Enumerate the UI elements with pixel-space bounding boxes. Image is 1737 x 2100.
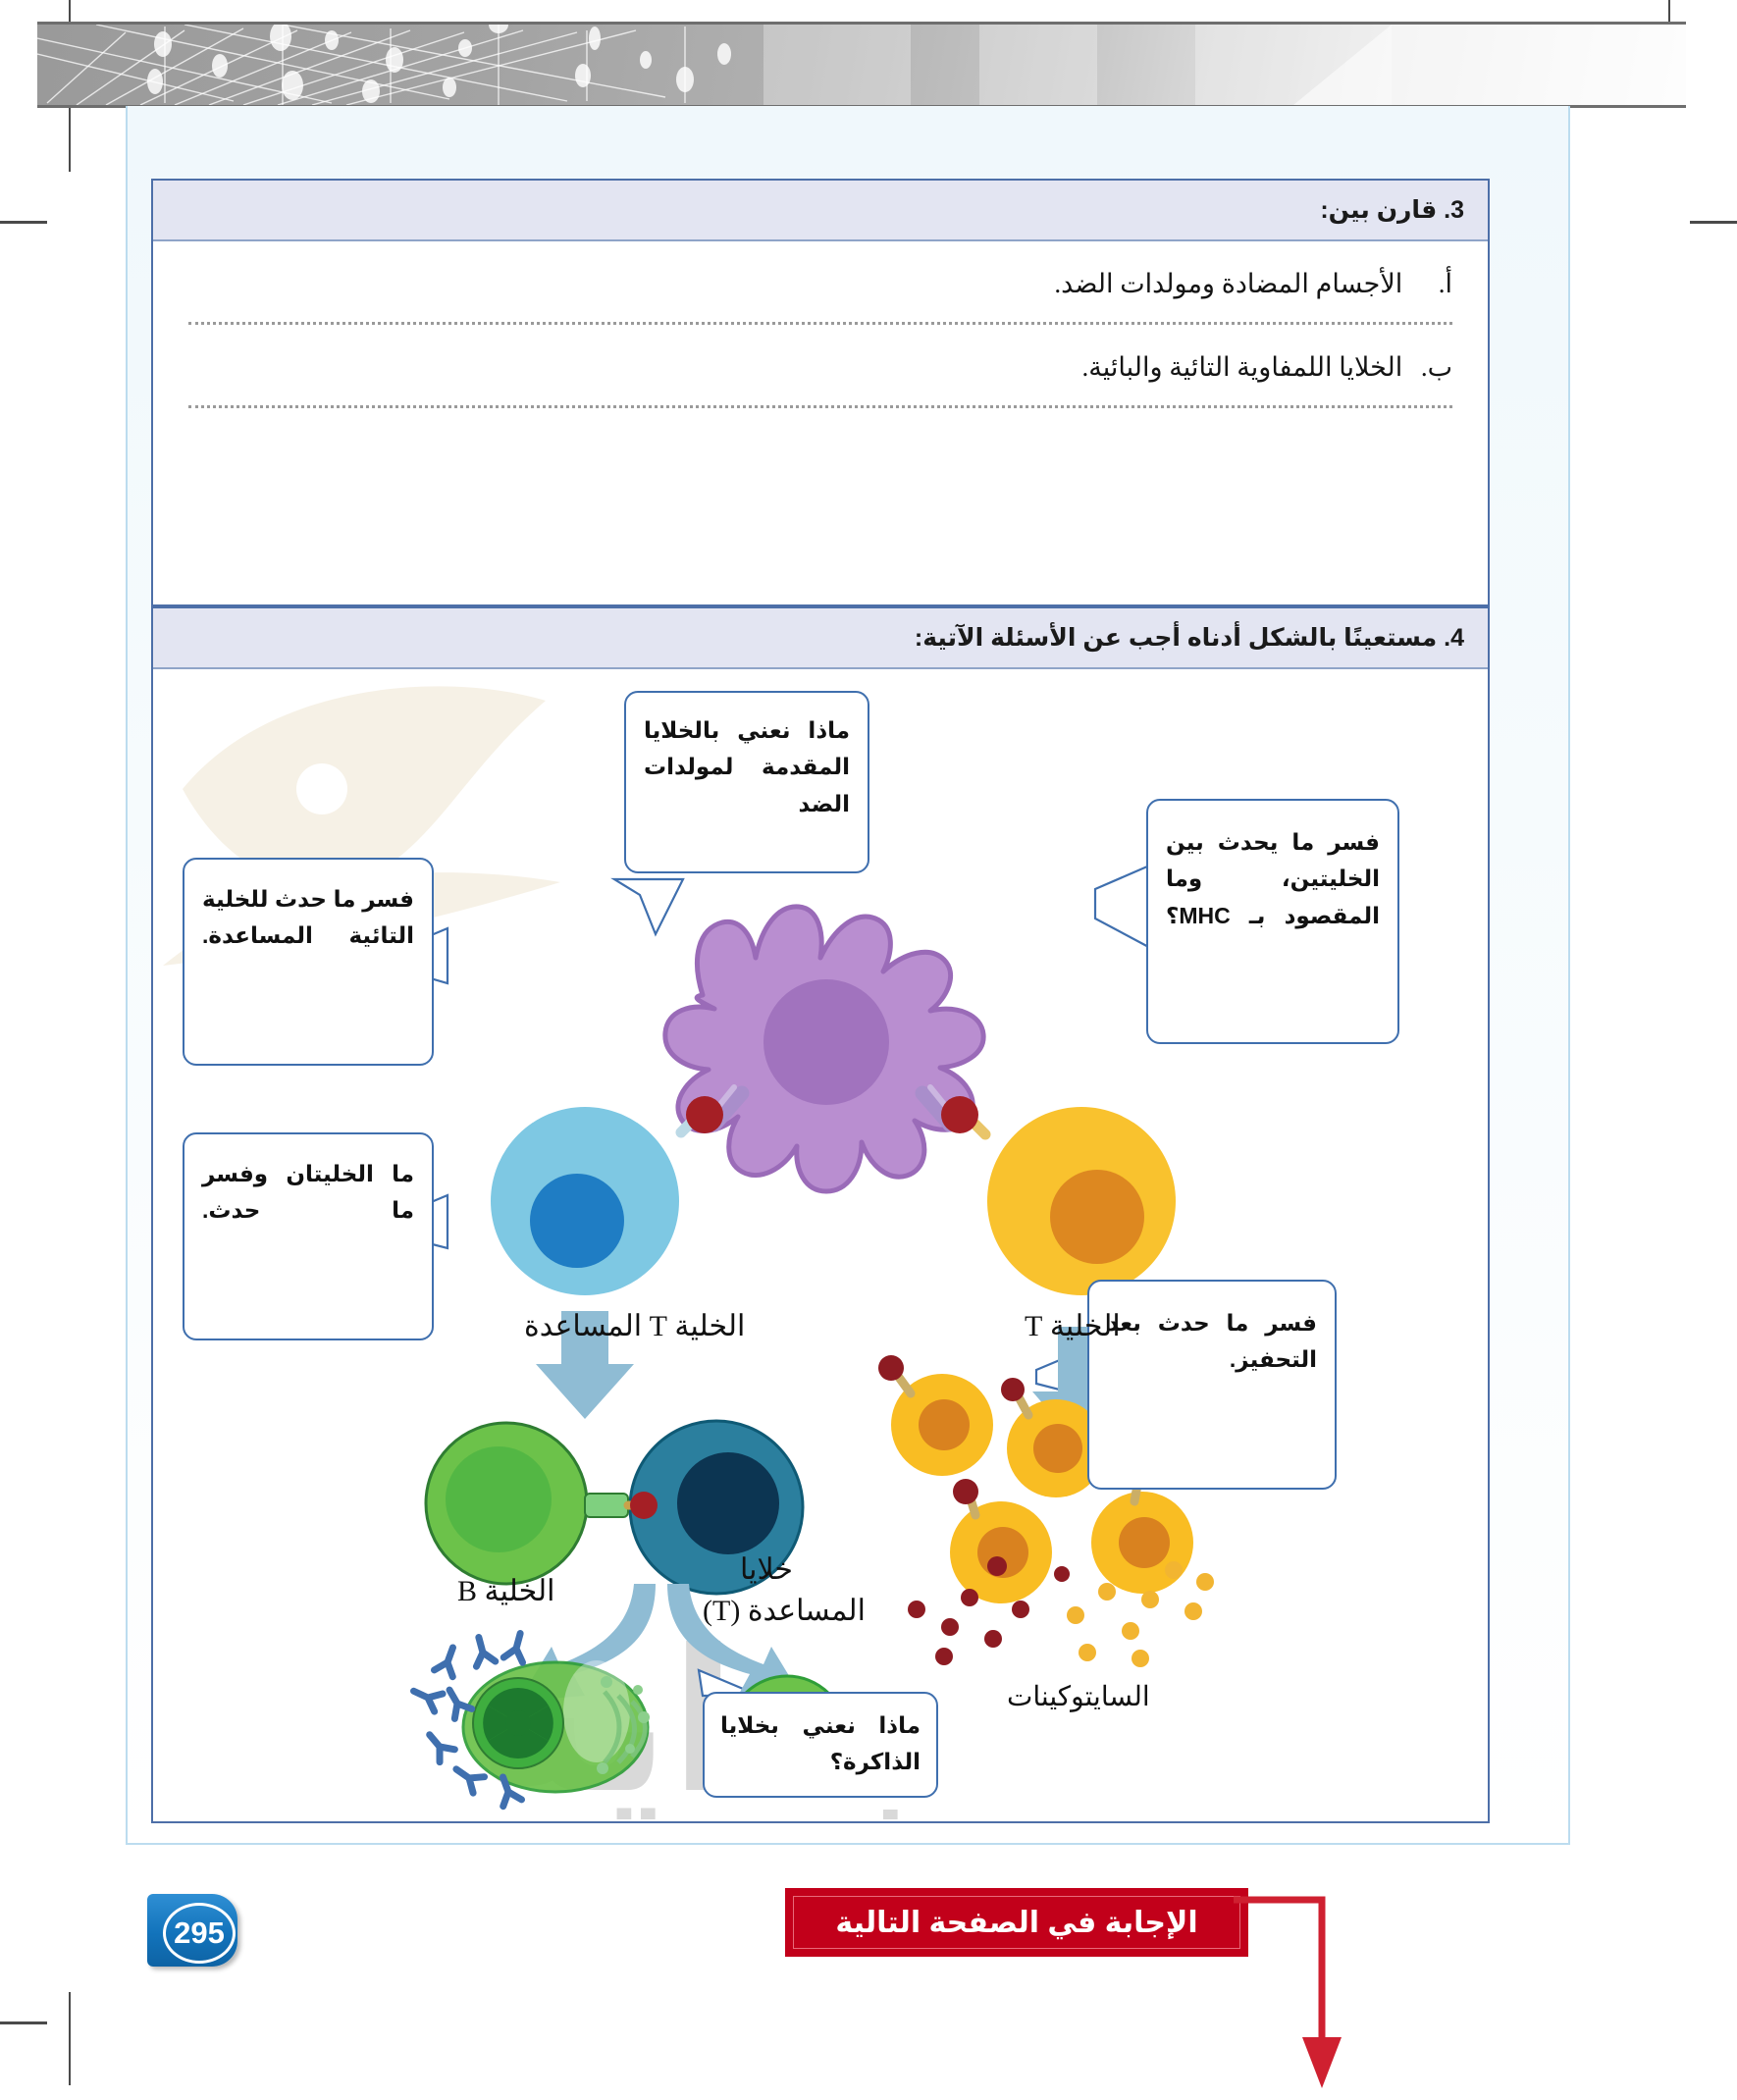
crop-mark-bottom-left-v: [69, 1992, 71, 2085]
plasma-cell-shape: [463, 1660, 650, 1792]
question-3-body: أ. الأجسام المضادة ومولدات الضد. ب. الخل…: [153, 241, 1488, 408]
antigen-dot-left: [686, 1096, 723, 1133]
down-arrow-icon: [1232, 1894, 1349, 2100]
helper-t-nucleus: [530, 1174, 624, 1268]
callout-after-stimulation[interactable]: فسر ما حدث بعد التحفيز.: [1087, 1280, 1337, 1490]
page-header-banner: [37, 22, 1686, 108]
plasma-cell-organelles: [483, 1688, 553, 1759]
question-3-item-a-label: أ.: [1409, 269, 1452, 299]
t-cell-shape: [987, 1107, 1176, 1295]
callout-helper-t-text: فسر ما حدث للخلية التائية المساعدة.: [202, 881, 414, 955]
callout-apc[interactable]: ماذا نعني بالخلايا المقدمة لمولدات الضد: [624, 691, 869, 873]
antigen-dot-right: [941, 1096, 978, 1133]
label-cytokines: السايتوكينات: [1007, 1680, 1150, 1713]
question-3-item-b-text: الخلايا اللمفاوية التائية والبائية.: [1082, 352, 1403, 382]
cytokine-particles: [908, 1556, 1214, 1667]
page-number-ellipse: 295: [163, 1903, 236, 1964]
apc-nucleus: [763, 979, 889, 1105]
helper-t-cell-shape: [491, 1107, 679, 1295]
callout-mhc[interactable]: فسر ما يحدث بين الخليتين، وما المقصود بـ…: [1146, 799, 1399, 1044]
question-3-item-b-label: ب.: [1409, 352, 1452, 383]
callout-two-cells[interactable]: ما الخليتان وفسر ما حدث.: [183, 1132, 434, 1340]
page-number-text: 295: [174, 1916, 225, 1951]
callout-memory-cells[interactable]: ماذا نعني بخلايا الذاكرة؟: [703, 1692, 938, 1798]
label-helper-t-cell: الخلية T المساعدة: [524, 1309, 745, 1343]
stimulated-t-cell: [878, 1355, 993, 1476]
label-b-cell: الخلية B: [457, 1574, 554, 1608]
question-4-header: 4. مستعينًا بالشكل أدناه أجب عن الأسئلة …: [153, 608, 1488, 669]
stimulated-t-cell: [950, 1479, 1052, 1603]
crop-mark-top-left-h: [0, 221, 47, 224]
question-3-header: 3. قارن بين:: [153, 181, 1488, 241]
crop-mark-bottom-left-h: [0, 2021, 47, 2024]
next-page-answer-text: الإجابة في الصفحة التالية: [835, 1906, 1197, 1940]
b-cell-nucleus: [446, 1446, 552, 1552]
question-4-title: 4. مستعينًا بالشكل أدناه أجب عن الأسئلة …: [915, 623, 1464, 653]
question-3-title: 3. قارن بين:: [1320, 195, 1464, 225]
helper-t-cells-nucleus: [677, 1452, 779, 1554]
callout-helper-t[interactable]: فسر ما حدث للخلية التائية المساعدة.: [183, 858, 434, 1066]
answer-line-b[interactable]: [188, 404, 1452, 408]
callout-after-stimulation-text: فسر ما حدث بعد التحفيز.: [1107, 1305, 1317, 1379]
label-t-cell: الخلية T: [1025, 1309, 1121, 1343]
mhc-callout-tail: [1095, 864, 1154, 950]
b-cell-shape: [426, 1423, 587, 1584]
t-cell-nucleus: [1050, 1170, 1144, 1264]
callout-memory-cells-text: ماذا نعني بخلايا الذاكرة؟: [720, 1707, 921, 1781]
question-3-item-a: أ. الأجسام المضادة ومولدات الضد.: [153, 241, 1488, 305]
crop-mark-top-right-h: [1690, 221, 1737, 224]
molecular-network-graphic: [37, 25, 1686, 105]
question-3-block: 3. قارن بين: أ. الأجسام المضادة ومولدات …: [151, 179, 1490, 606]
question-3-item-b: ب. الخلايا اللمفاوية التائية والبائية.: [153, 325, 1488, 389]
antigen-presenting-cell: [665, 907, 983, 1191]
immune-response-diagram: بداية beadaya.com موقع بداية التعليمي: [153, 671, 1488, 1819]
callout-apc-text: ماذا نعني بالخلايا المقدمة لمولدات الضد: [644, 712, 850, 822]
label-helper-t-cells-2: المساعدة (T): [703, 1594, 866, 1628]
label-helper-t-cells: خلايا: [740, 1552, 793, 1587]
page-number-badge: 295: [147, 1894, 243, 1970]
question-3-item-a-text: الأجسام المضادة ومولدات الضد.: [1054, 269, 1402, 298]
apc-callout-tail: [614, 879, 683, 934]
callout-two-cells-text: ما الخليتان وفسر ما حدث.: [202, 1156, 414, 1230]
b-t-binding-bridge: [585, 1492, 658, 1519]
next-page-answer-banner: الإجابة في الصفحة التالية: [785, 1888, 1248, 1957]
question-4-block: 4. مستعينًا بالشكل أدناه أجب عن الأسئلة …: [151, 606, 1490, 1823]
callout-mhc-text: فسر ما يحدث بين الخليتين، وما المقصود بـ…: [1166, 824, 1380, 934]
